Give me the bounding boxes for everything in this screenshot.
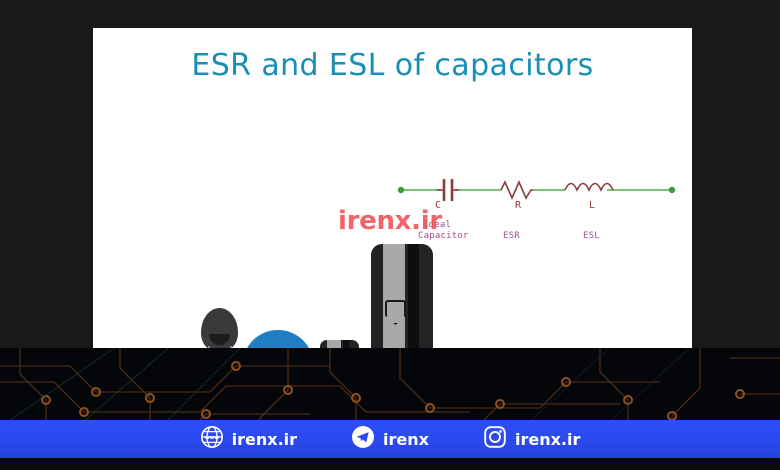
component-ref-l: L <box>589 200 595 211</box>
medium-cap-stripe <box>327 340 341 348</box>
watermark: irenx.ir <box>338 206 442 236</box>
svg-text:www: www <box>204 435 219 441</box>
social-label-telegram: irenx <box>383 430 429 449</box>
social-link-website[interactable]: www irenx.ir <box>200 425 297 454</box>
social-label-instagram: irenx.ir <box>515 430 580 449</box>
telegram-icon <box>351 425 375 454</box>
resistor-zigzag <box>501 182 533 198</box>
component-ref-r: R <box>515 200 521 211</box>
social-link-instagram[interactable]: irenx.ir <box>483 425 580 454</box>
inductor-coils <box>565 184 613 191</box>
bottom-strip <box>0 458 780 470</box>
social-label-website: irenx.ir <box>232 430 297 449</box>
globe-www-icon: www <box>200 425 224 454</box>
medium-cap-dark-band <box>343 340 350 348</box>
social-link-telegram[interactable]: irenx <box>351 425 429 454</box>
terminal-node-left <box>398 187 404 193</box>
esr-label: ESR <box>503 231 520 242</box>
screenshot-root: ESR and ESL of capacitors <box>0 0 780 470</box>
instagram-icon <box>483 425 507 454</box>
page-title: ESR and ESL of capacitors <box>93 48 692 83</box>
blue-disc-body <box>243 330 313 348</box>
social-bar: www irenx.ir irenx <box>0 420 780 458</box>
terminal-node-right <box>669 187 675 193</box>
slide-card: ESR and ESL of capacitors <box>93 28 692 348</box>
esl-label: ESL <box>583 231 600 242</box>
